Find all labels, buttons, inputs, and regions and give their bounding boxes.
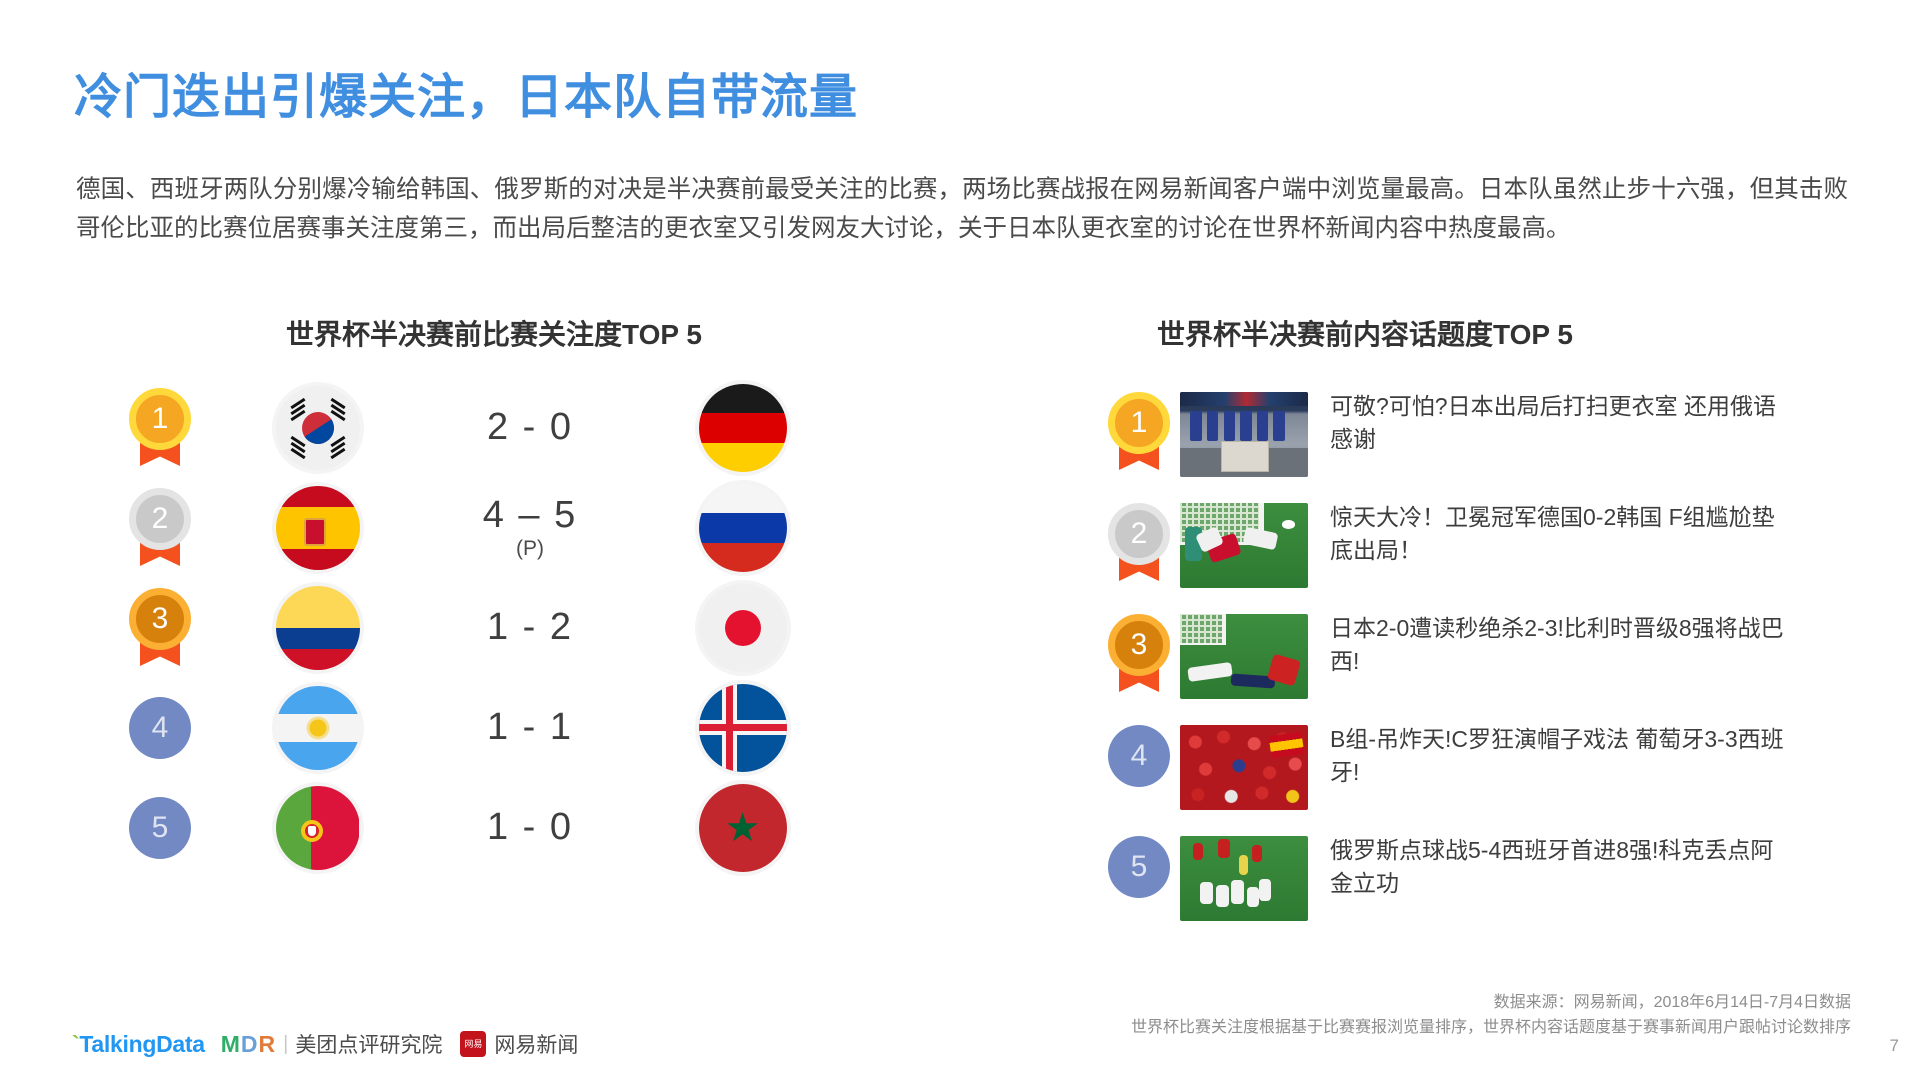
- topic-headline: 惊天大冷！卫冕冠军德国0-2韩国 F组尴尬垫底出局！: [1330, 499, 1790, 567]
- locker-room-thumbnail: [1180, 392, 1308, 477]
- medal-silver-icon: 2: [1108, 503, 1170, 583]
- list-item: 4 B组-吊炸天!C罗狂演帽子戏法 葡萄牙3-3西班牙!: [1098, 721, 1898, 832]
- medal-silver-icon: 2: [129, 488, 191, 568]
- flag-korea-icon: [276, 386, 360, 470]
- flag-argentina-icon: [276, 686, 360, 770]
- rank-cell: 1: [100, 388, 220, 468]
- rank-number: 2: [1108, 503, 1170, 565]
- rank-cell: 4: [1098, 721, 1180, 787]
- home-flag-cell: [220, 586, 415, 670]
- logo-divider: |: [283, 1033, 288, 1056]
- intro-paragraph: 德国、西班牙两队分别爆冷输给韩国、俄罗斯的对决是半决赛前最受关注的比赛，两场比赛…: [76, 170, 1848, 248]
- table-row: 5 1 - 0 ★: [100, 778, 940, 878]
- rank-badge-5: 5: [1108, 836, 1170, 898]
- medal-bronze-icon: 3: [1108, 614, 1170, 694]
- away-flag-cell: [645, 384, 840, 472]
- rank-badge-4: 4: [129, 697, 191, 759]
- players-on-ground-thumbnail: [1180, 614, 1308, 699]
- away-flag-cell: [645, 484, 840, 572]
- medal-gold-icon: 1: [129, 388, 191, 468]
- rank-badge-5: 5: [129, 797, 191, 859]
- footer-logos: `TalkingData MDR | 美团点评研究院 网易 网易新闻: [72, 1029, 578, 1059]
- away-flag-cell: ★: [645, 784, 840, 872]
- list-item: 1 可敬?可怕?日本出局后打扫更衣室 还用俄语感谢: [1098, 388, 1898, 499]
- flag-morocco-icon: ★: [699, 784, 787, 872]
- red-crowd-thumbnail: [1180, 725, 1308, 810]
- topic-headline: 俄罗斯点球战5-4西班牙首进8强!科克丢点阿金立功: [1330, 832, 1790, 900]
- score-value: 1 - 1: [487, 706, 573, 748]
- right-section-heading: 世界杯半决赛前内容话题度TOP 5: [1157, 313, 1573, 353]
- netease-badge-icon: 网易: [460, 1031, 486, 1057]
- score-value: 4 – 5: [483, 494, 578, 536]
- list-item: 3 日本2-0遭读秒绝杀2-3!比利时晋级8强将战巴西!: [1098, 610, 1898, 721]
- match-score: 1 - 2: [415, 608, 645, 648]
- netease-news-label: 网易新闻: [494, 1029, 578, 1059]
- rank-cell: 2: [1098, 499, 1180, 583]
- rank-number: 2: [129, 488, 191, 550]
- match-score: 2 - 0: [415, 408, 645, 448]
- list-item: 2 惊天大冷！卫冕冠军德国0-2韩国 F组尴尬垫底出局！: [1098, 499, 1898, 610]
- rank-number: 1: [1108, 392, 1170, 454]
- source-line-1: 数据来源：网易新闻，2018年6月14日-7月4日数据: [1131, 990, 1851, 1015]
- medal-gold-icon: 1: [1108, 392, 1170, 472]
- list-item: 5 俄罗斯点球战5-4西班牙首进8强!科克丢点阿金立功: [1098, 832, 1898, 943]
- rank-cell: 3: [1098, 610, 1180, 694]
- meituan-research-label: 美团点评研究院: [295, 1029, 442, 1059]
- rank-cell: 2: [100, 488, 220, 568]
- rank-cell: 5: [1098, 832, 1180, 898]
- rank-cell: 3: [100, 588, 220, 668]
- home-flag-cell: [220, 686, 415, 770]
- table-row: 3 1 - 2: [100, 578, 940, 678]
- home-flag-cell: [220, 486, 415, 570]
- source-line-2: 世界杯比赛关注度根据基于比赛赛报浏览量排序，世界杯内容话题度基于赛事新闻用户跟帖…: [1131, 1015, 1851, 1040]
- flag-iceland-icon: [699, 684, 787, 772]
- home-flag-cell: [220, 786, 415, 870]
- flag-japan-icon: [699, 584, 787, 672]
- rank-cell: 5: [100, 797, 220, 859]
- home-flag-cell: [220, 386, 415, 470]
- rank-number: 3: [1108, 614, 1170, 676]
- topic-headline: 可敬?可怕?日本出局后打扫更衣室 还用俄语感谢: [1330, 388, 1790, 456]
- score-note: (P): [415, 538, 645, 560]
- rank-cell: 1: [1098, 388, 1180, 472]
- celebration-thumbnail: [1180, 836, 1308, 921]
- flag-spain-icon: [276, 486, 360, 570]
- topic-ranking-list: 1 可敬?可怕?日本出局后打扫更衣室 还用俄语感谢 2: [1098, 388, 1898, 943]
- flag-portugal-icon: [276, 786, 360, 870]
- score-value: 1 - 0: [487, 806, 573, 848]
- table-row: 4 1 - 1: [100, 678, 940, 778]
- score-value: 2 - 0: [487, 406, 573, 448]
- rank-number: 1: [129, 388, 191, 450]
- slide-page: 冷门迭出引爆关注，日本队自带流量 德国、西班牙两队分别爆冷输给韩国、俄罗斯的对决…: [0, 0, 1921, 1080]
- rank-number: 3: [129, 588, 191, 650]
- left-section-heading: 世界杯半决赛前比赛关注度TOP 5: [286, 313, 702, 353]
- goalmouth-thumbnail: [1180, 503, 1308, 588]
- topic-headline: B组-吊炸天!C罗狂演帽子戏法 葡萄牙3-3西班牙!: [1330, 721, 1790, 789]
- flag-russia-icon: [699, 484, 787, 572]
- match-score: 4 – 5 (P): [415, 496, 645, 560]
- flag-germany-icon: [699, 384, 787, 472]
- flag-colombia-icon: [276, 586, 360, 670]
- away-flag-cell: [645, 584, 840, 672]
- rank-cell: 4: [100, 697, 220, 759]
- match-score: 1 - 0: [415, 808, 645, 848]
- talkingdata-logo: `TalkingData: [72, 1031, 205, 1058]
- table-row: 1: [100, 378, 940, 478]
- mdr-logo: MDR: [221, 1031, 276, 1058]
- medal-bronze-icon: 3: [129, 588, 191, 668]
- match-score: 1 - 1: [415, 708, 645, 748]
- source-note: 数据来源：网易新闻，2018年6月14日-7月4日数据 世界杯比赛关注度根据基于…: [1131, 990, 1851, 1040]
- page-title: 冷门迭出引爆关注，日本队自带流量: [74, 57, 858, 127]
- topic-headline: 日本2-0遭读秒绝杀2-3!比利时晋级8强将战巴西!: [1330, 610, 1790, 678]
- rank-badge-4: 4: [1108, 725, 1170, 787]
- away-flag-cell: [645, 684, 840, 772]
- table-row: 2 4 – 5 (P): [100, 478, 940, 578]
- match-ranking-list: 1: [100, 378, 940, 878]
- page-number: 7: [1890, 1036, 1899, 1056]
- score-value: 1 - 2: [487, 606, 573, 648]
